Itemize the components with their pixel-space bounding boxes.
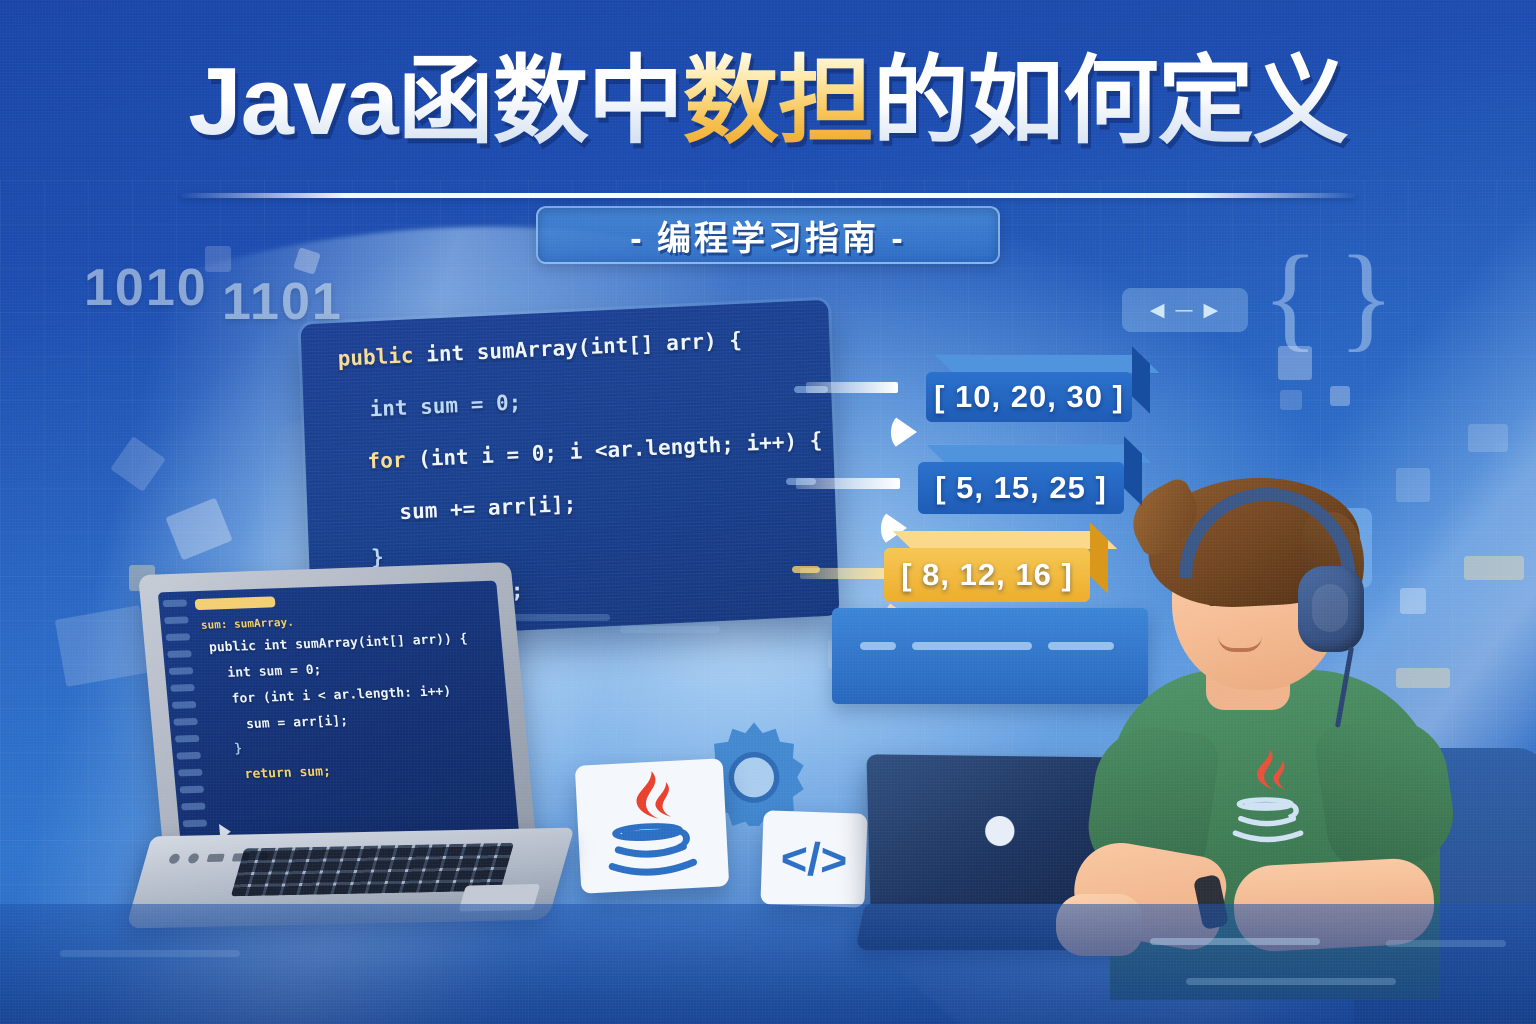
desk-highlight — [1150, 938, 1320, 945]
shelf-bar — [912, 642, 1032, 650]
array-block-2: [ 5, 15, 25 ] — [918, 462, 1124, 514]
page-title: Java函数中数担的如何定义 — [0, 48, 1536, 156]
media-pill-glyphs: ◀ — ▶ — [1150, 299, 1220, 321]
laptop-code-line-5: } — [234, 741, 243, 756]
code-keyword-for: for — [367, 448, 406, 474]
shelf-bar — [860, 642, 896, 650]
java-logo-icon — [575, 758, 729, 894]
person-sleeve-right — [1312, 712, 1459, 874]
code-symbol-icon: </> — [760, 810, 867, 908]
array-block-top-face — [893, 531, 1118, 549]
laptop-navy-logo-icon — [985, 816, 1015, 847]
arrow-to-array-3 — [800, 566, 892, 580]
poster-canvas: 1010 1101 { } ◀ — ▶ Java函数中数担的如何定义 - 编程学… — [0, 0, 1536, 1024]
decor-chip — [1468, 424, 1508, 452]
array-block-3: [ 8, 12, 16 ] — [884, 548, 1090, 602]
title-divider — [180, 193, 1356, 198]
code-keyword-public: public — [337, 343, 414, 371]
laptop-tab-label: sum: sumArray. — [200, 616, 294, 632]
editor-gutter — [163, 599, 210, 849]
media-pill-icon: ◀ — ▶ — [1122, 288, 1248, 332]
array-block-top-face — [927, 445, 1152, 463]
headphones-earcup-icon — [1298, 566, 1364, 652]
code-rest-3: (int i = 0; i <ar.length; i++) { — [405, 428, 823, 472]
decor-chip — [1330, 386, 1350, 406]
array-block-1: [ 10, 20, 30 ] — [926, 372, 1132, 422]
laptop-code-line-3: for (int i < ar.length: i++) — [231, 684, 452, 707]
decor-chip — [1280, 390, 1302, 410]
laptop-code-line-2: int sum = 0; — [227, 663, 322, 681]
laptop-code-line-6: return sum; — [244, 764, 332, 782]
array-block-label-2: [ 5, 15, 25 ] — [918, 462, 1124, 514]
desk-highlight — [1186, 978, 1396, 985]
title-segment-white-2: 的如何定义 — [873, 48, 1348, 156]
array-block-label-1: [ 10, 20, 30 ] — [926, 372, 1132, 422]
array-block-top-face — [935, 355, 1160, 373]
array-block-label-3: [ 8, 12, 16 ] — [884, 548, 1090, 602]
code-rest-2: int sum = 0; — [369, 390, 521, 421]
editor-tab-highlight — [195, 596, 276, 610]
code-rest-1: int sumArray(int[] arr) { — [413, 328, 742, 367]
laptop-code-line-1: public int sumArray(int[] arr)) { — [208, 632, 468, 656]
code-line-1: public int sumArray(int[] arr) { — [337, 328, 742, 371]
binary-text-1: 1010 — [84, 258, 208, 318]
code-line-2: int sum = 0; — [369, 390, 521, 421]
title-segment-white-1: Java函数中 — [188, 48, 683, 156]
laptop-screen: sum: sumArray. public int sumArray(int[]… — [158, 581, 520, 858]
decor-chip — [205, 246, 231, 272]
curly-brace-close-icon: } — [1338, 238, 1395, 356]
laptop-silver: sum: sumArray. public int sumArray(int[]… — [140, 568, 560, 924]
java-logo-card — [575, 758, 729, 894]
code-symbol-card: </> — [760, 810, 867, 908]
code-rest-4: sum += arr[i]; — [399, 492, 577, 524]
desk-surface — [0, 904, 1536, 1024]
code-line-4: sum += arr[i]; — [399, 492, 577, 524]
desk-highlight — [1386, 940, 1506, 947]
panel-bar — [620, 626, 720, 633]
curly-brace-open-icon: { — [1262, 238, 1319, 356]
shirt-java-logo-icon — [1212, 746, 1324, 864]
arrow-to-array-1 — [806, 380, 898, 394]
subtitle-text: - 编程学习指南 - — [630, 211, 906, 260]
code-line-3: for (int i = 0; i <ar.length; i++) { — [367, 428, 823, 473]
title-segment-gold: 数担 — [683, 48, 873, 156]
arrow-to-array-2 — [796, 476, 900, 490]
desk-highlight — [60, 950, 240, 957]
subtitle-banner: - 编程学习指南 - — [536, 206, 1000, 264]
laptop-code-line-4: sum = arr[i]; — [245, 714, 348, 732]
